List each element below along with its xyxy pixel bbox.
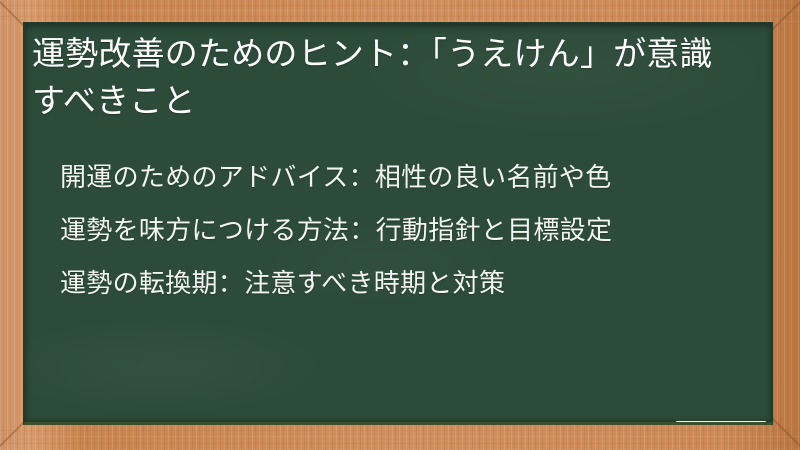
frame-bottom-wood-grain xyxy=(0,425,800,450)
board-topic-list: 開運のためのアドバイス：相性の良い名前や色 運勢を味方につける方法：行動指針と目… xyxy=(32,151,761,310)
board-topic-item-2: 運勢を味方につける方法：行動指針と目標設定 xyxy=(60,204,761,257)
board-topic-item-3: 運勢の転換期：注意すべき時期と対策 xyxy=(60,257,761,310)
chalkboard-surface: 運勢改善のためのヒント：「うえけん」が意識すべきこと 開運のためのアドバイス：相… xyxy=(23,22,773,425)
board-content: 運勢改善のためのヒント：「うえけん」が意識すべきこと 開運のためのアドバイス：相… xyxy=(25,24,773,425)
frame-top-wood-grain xyxy=(0,0,800,22)
frame-miter-bottom-right xyxy=(769,415,800,449)
board-topic-item-1: 開運のためのアドバイス：相性の良い名前や色 xyxy=(60,151,761,204)
chalk-stick xyxy=(676,421,766,425)
chalkboard-frame: 運勢改善のためのヒント：「うえけん」が意識すべきこと 開運のためのアドバイス：相… xyxy=(0,0,800,450)
board-title: 運勢改善のためのヒント：「うえけん」が意識すべきこと xyxy=(32,30,732,124)
frame-miter-top-right xyxy=(769,0,800,33)
